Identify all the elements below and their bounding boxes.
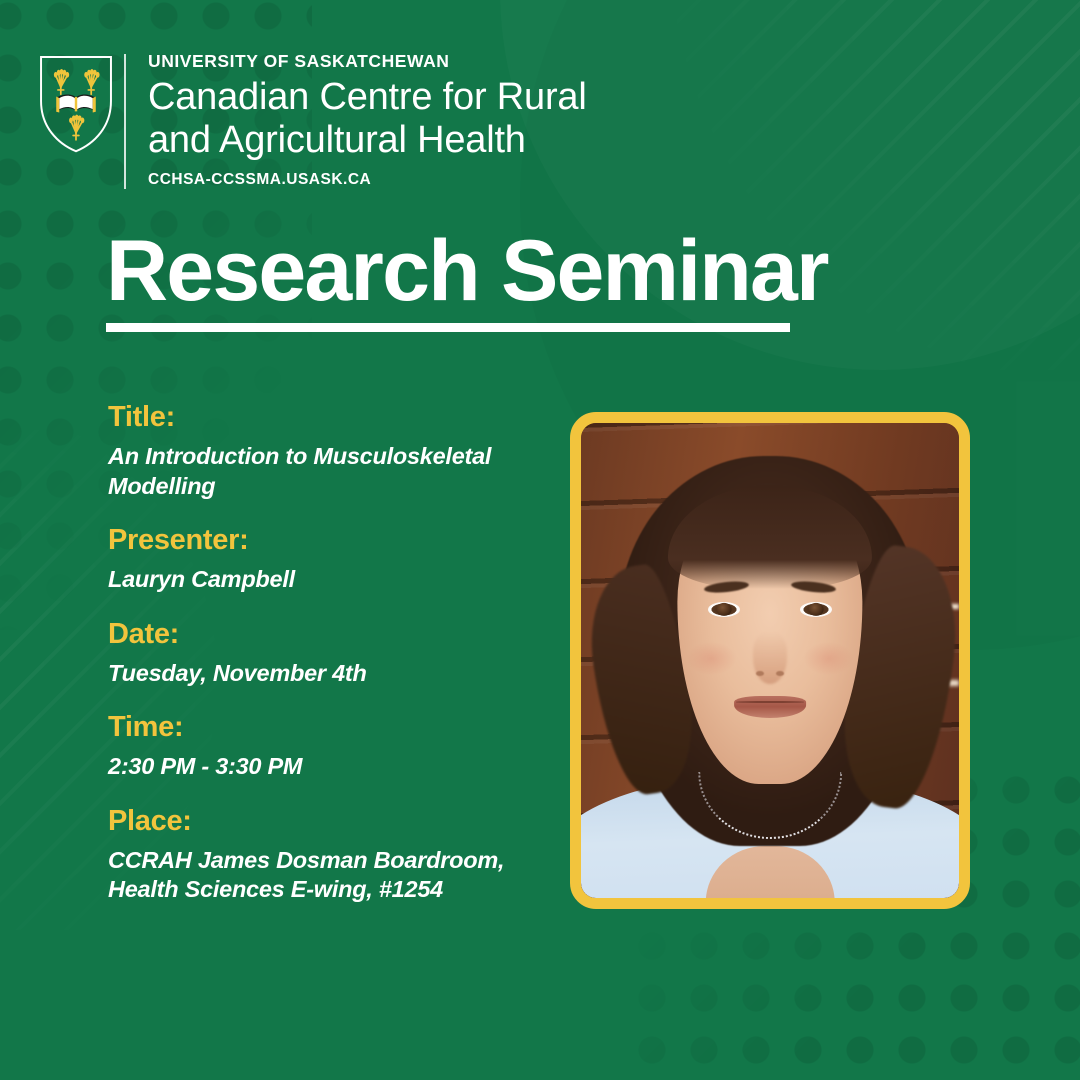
detail-value-line-1: An Introduction to Musculoskeletal	[108, 442, 538, 471]
presenter-photo	[581, 423, 959, 898]
detail-group-date: Date: Tuesday, November 4th	[108, 617, 538, 689]
detail-label: Date:	[108, 617, 538, 651]
logo-lockup: UNIVERSITY OF SASKATCHEWAN Canadian Cent…	[38, 52, 587, 189]
detail-value: Tuesday, November 4th	[108, 659, 538, 688]
centre-name: Canadian Centre for Rural and Agricultur…	[148, 76, 587, 161]
page-title-text: Research Seminar	[106, 228, 828, 314]
presenter-photo-frame	[570, 412, 970, 909]
photo-pupil-right	[808, 603, 823, 615]
detail-value: An Introduction to Musculoskeletal Model…	[108, 442, 538, 501]
detail-label: Presenter:	[108, 523, 538, 557]
detail-group-place: Place: CCRAH James Dosman Boardroom, Hea…	[108, 804, 538, 905]
detail-group-presenter: Presenter: Lauryn Campbell	[108, 523, 538, 595]
photo-cheek-left	[687, 642, 736, 675]
detail-value-line-1: 2:30 PM - 3:30 PM	[108, 752, 538, 781]
photo-cheek-right	[804, 642, 853, 675]
logo-divider	[124, 54, 126, 189]
detail-label: Time:	[108, 710, 538, 744]
detail-value-line-1: CCRAH James Dosman Boardroom,	[108, 846, 538, 875]
detail-value-line-1: Lauryn Campbell	[108, 565, 538, 594]
detail-label: Title:	[108, 400, 538, 434]
detail-value-line-2: Modelling	[108, 472, 538, 501]
detail-value-line-1: Tuesday, November 4th	[108, 659, 538, 688]
seminar-details: Title: An Introduction to Musculoskeleta…	[108, 400, 538, 905]
photo-mouth-line	[736, 701, 804, 703]
detail-group-time: Time: 2:30 PM - 3:30 PM	[108, 710, 538, 782]
detail-value-line-2: Health Sciences E-wing, #1254	[108, 875, 538, 904]
photo-nostril-right	[776, 671, 784, 676]
centre-name-line-2: and Agricultural Health	[148, 119, 587, 162]
seminar-poster: UNIVERSITY OF SASKATCHEWAN Canadian Cent…	[0, 0, 1080, 1080]
photo-eye-right	[800, 602, 833, 618]
detail-group-title: Title: An Introduction to Musculoskeleta…	[108, 400, 538, 501]
photo-pupil-left	[716, 603, 731, 615]
detail-value: CCRAH James Dosman Boardroom, Health Sci…	[108, 846, 538, 905]
centre-name-line-1: Canadian Centre for Rural	[148, 76, 587, 119]
page-title-underline	[106, 323, 790, 332]
detail-value: 2:30 PM - 3:30 PM	[108, 752, 538, 781]
presenter-photo-alt-text: Portrait photograph of presenter Lauryn …	[0, 0, 1, 1]
university-name: UNIVERSITY OF SASKATCHEWAN	[148, 52, 587, 71]
detail-label: Place:	[108, 804, 538, 838]
page-title: Research Seminar	[106, 228, 828, 332]
usask-shield-icon	[38, 52, 114, 154]
logo-text-block: UNIVERSITY OF SASKATCHEWAN Canadian Cent…	[148, 52, 587, 189]
centre-website-url: CCHSA-CCSSMA.USASK.CA	[148, 171, 587, 189]
detail-value: Lauryn Campbell	[108, 565, 538, 594]
photo-nose	[753, 632, 787, 684]
